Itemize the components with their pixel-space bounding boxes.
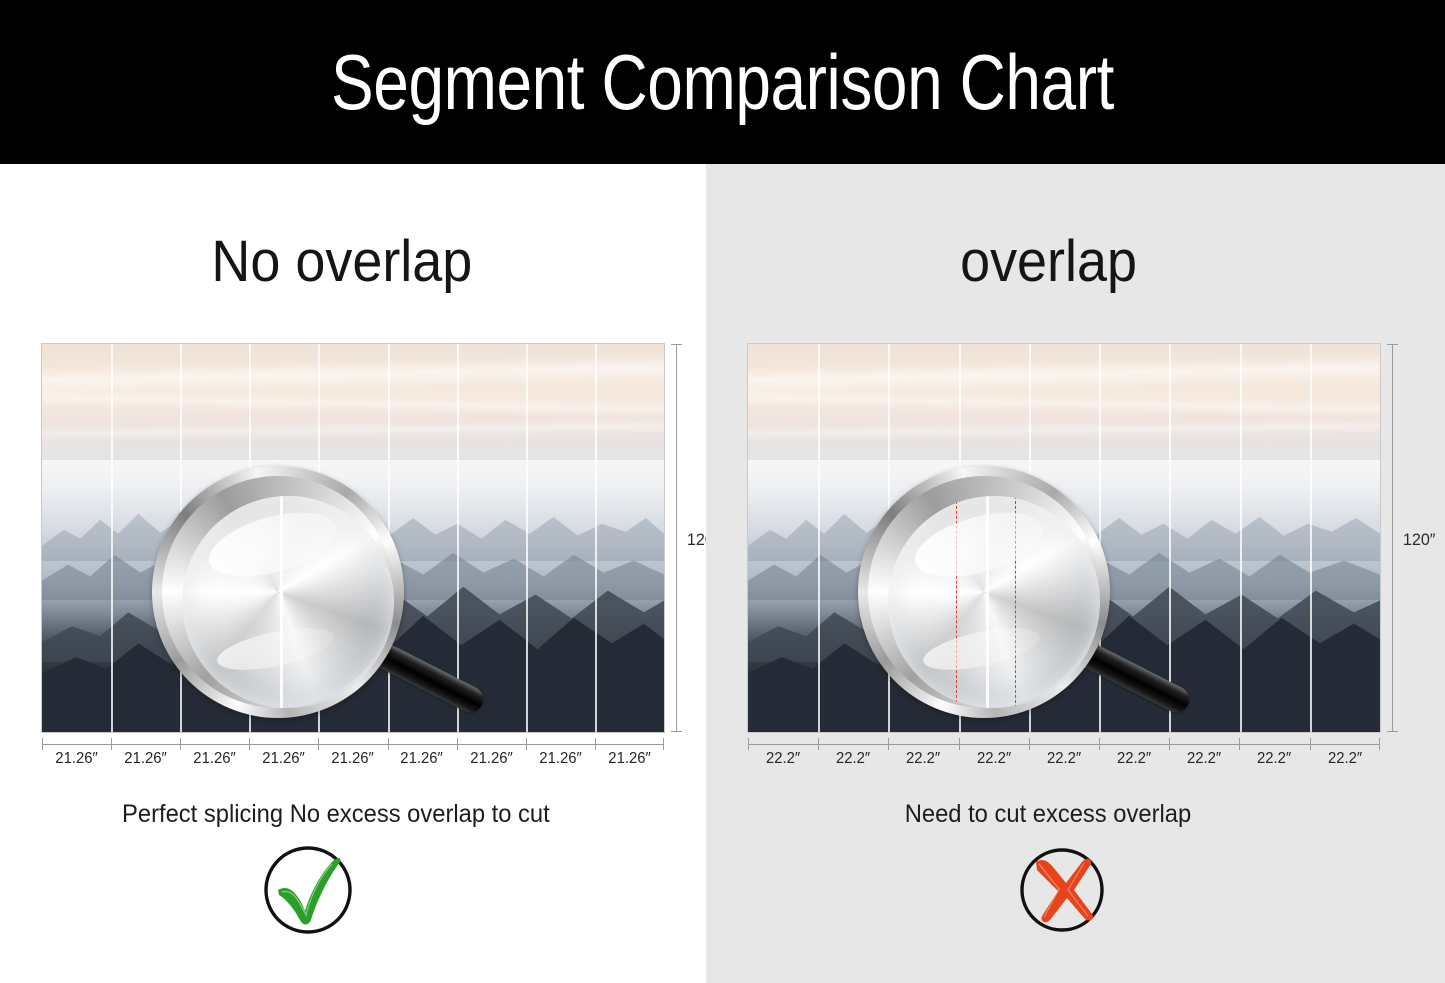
segment-label: 21.26″ — [321, 750, 385, 768]
seam-line — [1310, 344, 1312, 732]
dimension-tick — [318, 738, 319, 750]
seam-line — [959, 344, 961, 732]
dimension-cap — [671, 731, 682, 732]
segment-label: 22.2″ — [961, 750, 1026, 768]
dimension-tick — [457, 738, 458, 750]
dimension-cap — [1387, 344, 1398, 345]
segment-label: 22.2″ — [1031, 750, 1096, 768]
width-dimension-line-left — [42, 744, 664, 745]
dimension-tick — [42, 738, 43, 750]
segment-label: 22.2″ — [1242, 750, 1307, 768]
title-bar: Segment Comparison Chart — [0, 0, 1445, 164]
dimension-tick — [388, 738, 389, 750]
check-circle-icon — [258, 840, 358, 940]
segment-label: 22.2″ — [1312, 750, 1377, 768]
seam-line — [457, 344, 459, 732]
segment-label: 22.2″ — [750, 750, 815, 768]
caption-left: Perfect splicing No excess overlap to cu… — [18, 800, 689, 829]
seam-line — [1029, 344, 1031, 732]
height-label-right: 120″ — [1403, 530, 1436, 550]
dimension-tick — [1310, 738, 1311, 750]
dimension-tick — [526, 738, 527, 750]
segment-seams-left — [42, 344, 664, 732]
dimension-tick — [748, 738, 749, 750]
height-dimension-line-left: 120″ — [676, 344, 677, 732]
segment-label: 21.26″ — [528, 750, 592, 768]
panel-overlap: overlap — [706, 164, 1445, 983]
cross-circle-icon — [1012, 840, 1112, 940]
segment-label: 22.2″ — [821, 750, 886, 768]
segment-labels-left: 21.26″ 21.26″ 21.26″ 21.26″ 21.26″ 21.26… — [42, 750, 664, 768]
mural-preview-left: 21.26″ 21.26″ 21.26″ 21.26″ 21.26″ 21.26… — [42, 344, 664, 732]
mural-photo-left — [42, 344, 664, 732]
seam-line — [111, 344, 113, 732]
dimension-tick — [111, 738, 112, 750]
page-title: Segment Comparison Chart — [130, 0, 1315, 164]
seam-line — [1169, 344, 1171, 732]
dimension-tick — [180, 738, 181, 750]
seam-line — [526, 344, 528, 732]
seam-line — [1240, 344, 1242, 732]
dimension-cap — [1387, 731, 1398, 732]
mural-photo-right — [748, 344, 1380, 732]
segment-label: 21.26″ — [459, 750, 523, 768]
segment-label: 21.26″ — [44, 750, 108, 768]
segment-label: 22.2″ — [1172, 750, 1237, 768]
seam-line — [888, 344, 890, 732]
caption-right: Need to cut excess overlap — [724, 800, 1426, 829]
dimension-tick — [1169, 738, 1170, 750]
dimension-tick — [595, 738, 596, 750]
dimension-tick — [1029, 738, 1030, 750]
panel-heading-left: No overlap — [25, 228, 682, 295]
segment-labels-right: 22.2″ 22.2″ 22.2″ 22.2″ 22.2″ 22.2″ 22.2… — [748, 750, 1380, 768]
segment-label: 22.2″ — [1101, 750, 1166, 768]
seam-line — [818, 344, 820, 732]
segment-seams-right — [748, 344, 1380, 732]
dimension-tick — [959, 738, 960, 750]
segment-label: 21.26″ — [183, 750, 247, 768]
width-dimension-line-right — [748, 744, 1380, 745]
dimension-tick — [818, 738, 819, 750]
seam-line — [249, 344, 251, 732]
dimension-tick — [663, 738, 664, 750]
dimension-tick — [1379, 738, 1380, 750]
seam-line — [595, 344, 597, 732]
segment-label: 21.26″ — [597, 750, 661, 768]
dimension-tick — [1239, 738, 1240, 750]
segment-comparison-chart: Segment Comparison Chart No overlap — [0, 0, 1445, 983]
panel-no-overlap: No overlap — [0, 164, 706, 983]
panel-heading-right: overlap — [732, 228, 1419, 295]
segment-label: 21.26″ — [114, 750, 178, 768]
dimension-tick — [249, 738, 250, 750]
segment-label: 21.26″ — [390, 750, 454, 768]
dimension-cap — [671, 344, 682, 345]
dimension-tick — [888, 738, 889, 750]
segment-label: 21.26″ — [252, 750, 316, 768]
segment-label: 22.2″ — [891, 750, 956, 768]
seam-line — [388, 344, 390, 732]
comparison-panels: No overlap — [0, 164, 1445, 983]
mural-preview-right: 22.2″ 22.2″ 22.2″ 22.2″ 22.2″ 22.2″ 22.2… — [748, 344, 1380, 732]
dimension-tick — [1099, 738, 1100, 750]
seam-line — [318, 344, 320, 732]
seam-line — [1099, 344, 1101, 732]
seam-line — [180, 344, 182, 732]
height-dimension-line-right: 120″ — [1392, 344, 1393, 732]
